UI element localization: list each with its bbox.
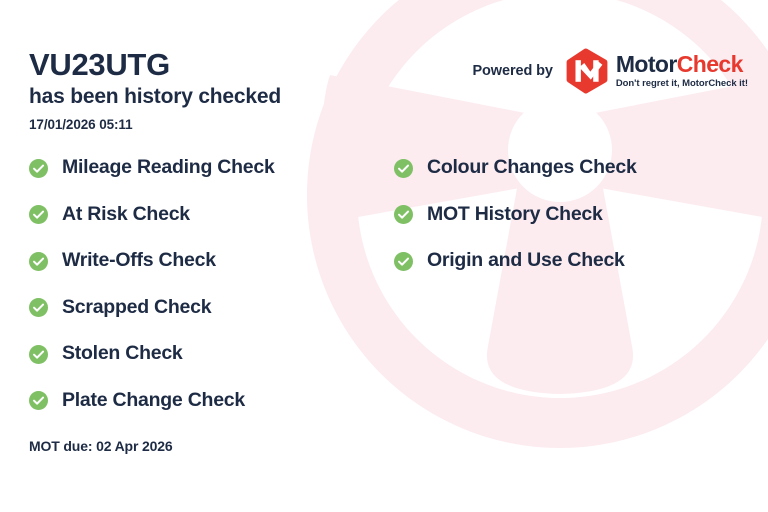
check-circle-icon — [29, 345, 48, 364]
powered-by-block: Powered by MotorCheck Don't regret it, M… — [472, 48, 748, 94]
check-item-label: Colour Changes Check — [427, 158, 637, 178]
check-item: Stolen Check — [29, 341, 275, 367]
check-circle-icon — [394, 252, 413, 271]
check-item-label: Mileage Reading Check — [62, 158, 275, 178]
check-circle-icon — [29, 298, 48, 317]
check-circle-icon — [29, 205, 48, 224]
check-item: At Risk Check — [29, 202, 275, 228]
check-item: Mileage Reading Check — [29, 155, 275, 181]
card-content: VU23UTG has been history checked 17/01/2… — [0, 0, 768, 512]
check-item-label: Stolen Check — [62, 344, 183, 364]
wordmark-row: MotorCheck — [616, 53, 748, 76]
check-item: Colour Changes Check — [394, 155, 637, 181]
mot-due-label: MOT due: 02 Apr 2026 — [29, 438, 173, 454]
powered-by-label: Powered by — [472, 63, 552, 79]
page-title: VU23UTG — [29, 48, 170, 81]
check-timestamp: 17/01/2026 05:11 — [29, 117, 133, 132]
status-headline: has been history checked — [29, 85, 281, 109]
wordmark-check: Check — [677, 51, 743, 77]
motorcheck-logo[interactable]: MotorCheck Don't regret it, MotorCheck i… — [566, 48, 748, 94]
motorcheck-hexagon-m-icon — [566, 48, 608, 94]
check-circle-icon — [394, 205, 413, 224]
motorcheck-wordmark: MotorCheck Don't regret it, MotorCheck i… — [616, 53, 748, 89]
checklist-left-column: Mileage Reading CheckAt Risk CheckWrite-… — [29, 155, 275, 434]
history-check-card: VU23UTG has been history checked 17/01/2… — [0, 0, 768, 512]
check-item-label: Write-Offs Check — [62, 251, 216, 271]
check-item: Origin and Use Check — [394, 248, 637, 274]
check-item-label: Scrapped Check — [62, 298, 211, 318]
check-item: Scrapped Check — [29, 295, 275, 321]
brand-tagline: Don't regret it, MotorCheck it! — [616, 79, 748, 89]
check-item-label: MOT History Check — [427, 205, 603, 225]
check-circle-icon — [29, 252, 48, 271]
check-item-label: At Risk Check — [62, 205, 190, 225]
wordmark-motor: Motor — [616, 51, 677, 77]
check-item: Write-Offs Check — [29, 248, 275, 274]
checklist-right-column: Colour Changes CheckMOT History CheckOri… — [394, 155, 637, 295]
check-item: MOT History Check — [394, 202, 637, 228]
check-item-label: Plate Change Check — [62, 391, 245, 411]
check-item: Plate Change Check — [29, 388, 275, 414]
check-circle-icon — [29, 391, 48, 410]
check-item-label: Origin and Use Check — [427, 251, 625, 271]
check-circle-icon — [394, 159, 413, 178]
check-circle-icon — [29, 159, 48, 178]
